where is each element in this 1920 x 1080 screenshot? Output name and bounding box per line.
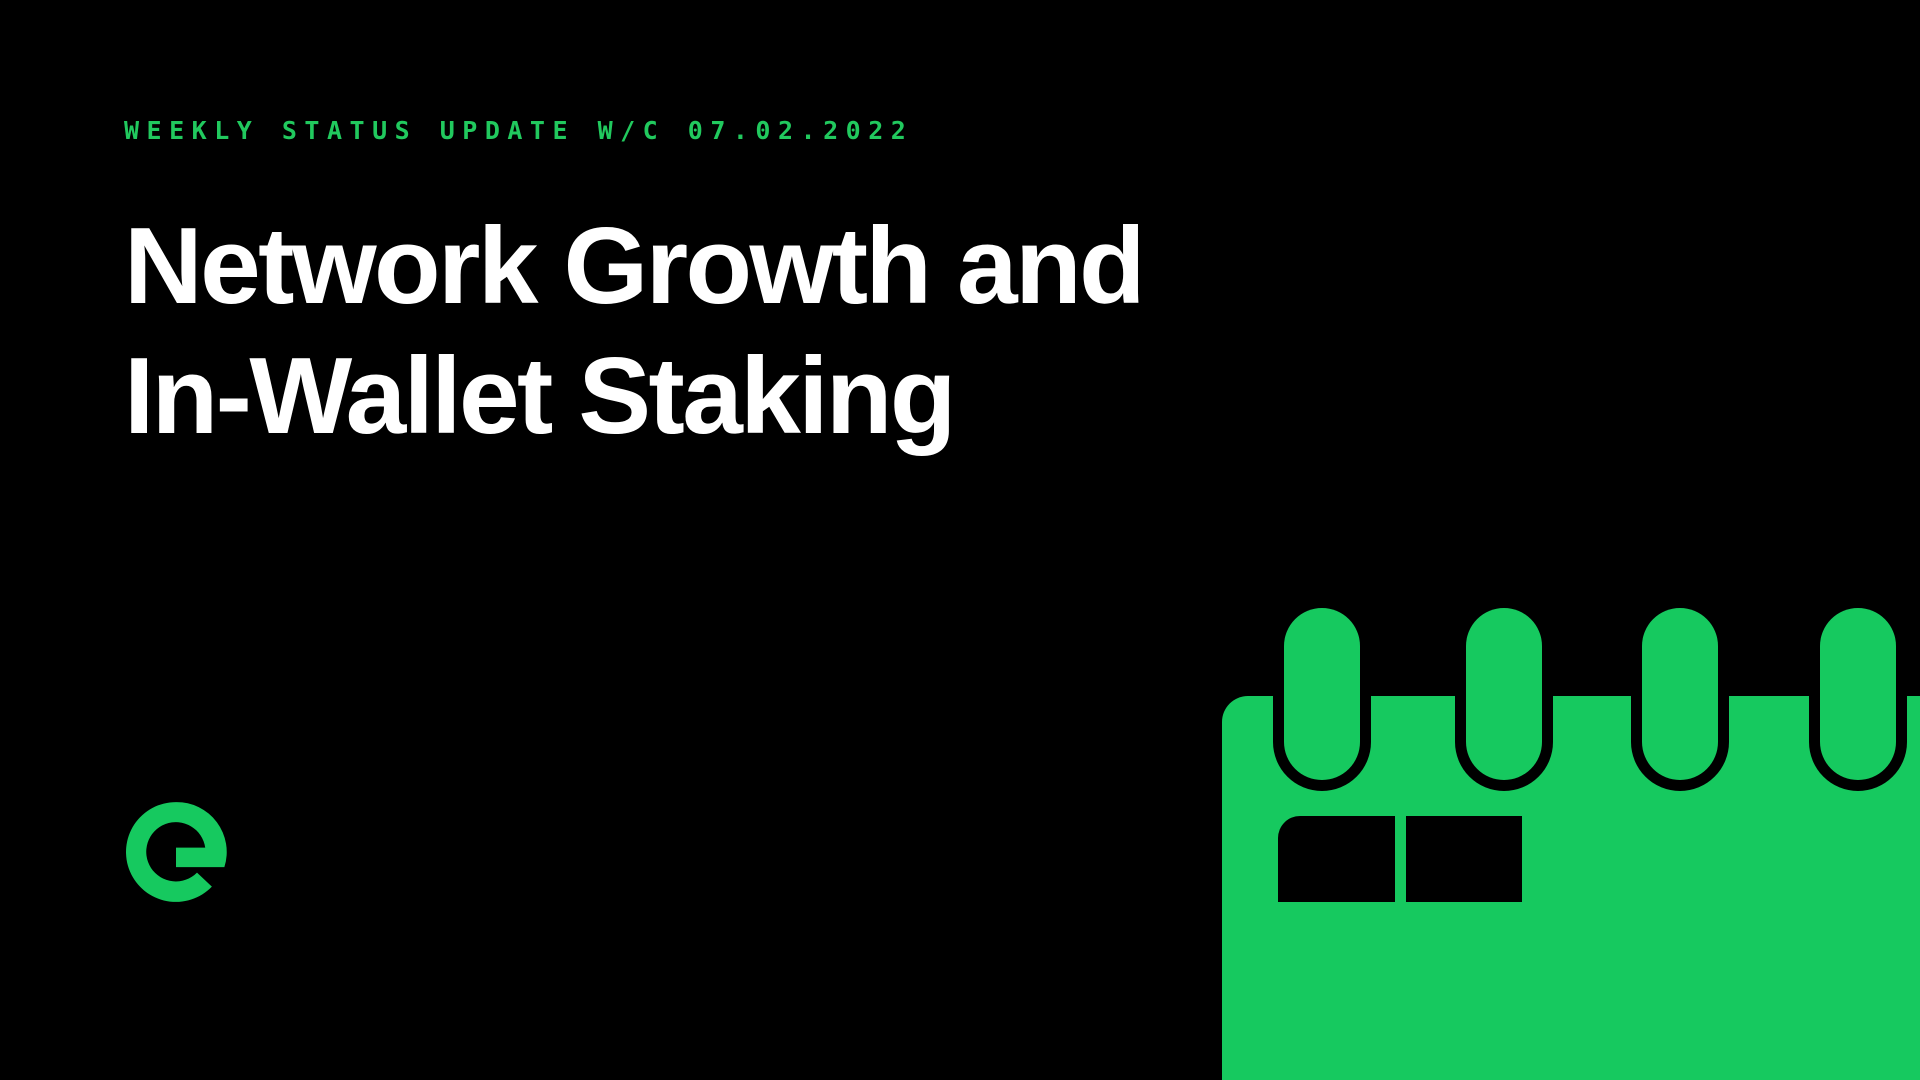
calendar-grid xyxy=(1278,816,1920,1080)
calendar-row xyxy=(1278,1010,1920,1080)
calendar-row xyxy=(1278,913,1920,999)
headline-line-2: In-Wallet Staking xyxy=(124,332,1143,462)
calendar-illustration xyxy=(1222,608,1920,1080)
calendar-cell xyxy=(1661,1010,1778,1080)
calendar-ring-2 xyxy=(1466,608,1542,780)
calendar-cell xyxy=(1278,1010,1395,1080)
headline-line-1: Network Growth and xyxy=(124,202,1143,332)
calendar-cell xyxy=(1788,816,1905,902)
calendar-cell xyxy=(1788,1010,1905,1080)
slide-canvas: WEEKLY STATUS UPDATE W/C 07.02.2022 Netw… xyxy=(0,0,1920,1080)
text-block: WEEKLY STATUS UPDATE W/C 07.02.2022 Netw… xyxy=(124,118,1143,461)
calendar-cell xyxy=(1533,1010,1650,1080)
energi-e-logo xyxy=(124,800,228,904)
calendar-row xyxy=(1278,816,1920,902)
energi-e-logo-icon xyxy=(124,800,228,904)
calendar-cell xyxy=(1916,913,1920,999)
calendar-ring-3 xyxy=(1642,608,1718,780)
calendar-cell xyxy=(1661,913,1778,999)
calendar-cell xyxy=(1406,816,1523,902)
calendar-cell xyxy=(1916,816,1920,902)
calendar-cell xyxy=(1533,816,1650,902)
calendar-ring-4 xyxy=(1820,608,1896,780)
calendar-cell xyxy=(1916,1010,1920,1080)
eyebrow-label: WEEKLY STATUS UPDATE W/C 07.02.2022 xyxy=(124,118,1143,143)
calendar-cell xyxy=(1278,913,1395,999)
calendar-cell xyxy=(1278,816,1395,902)
page-title: Network Growth and In-Wallet Staking xyxy=(124,202,1143,461)
calendar-cell xyxy=(1533,913,1650,999)
calendar-ring-1 xyxy=(1284,608,1360,780)
calendar-cell xyxy=(1788,913,1905,999)
calendar-cell xyxy=(1406,913,1523,999)
calendar-cell xyxy=(1406,1010,1523,1080)
calendar-cell xyxy=(1661,816,1778,902)
calendar-rings xyxy=(1222,608,1920,798)
